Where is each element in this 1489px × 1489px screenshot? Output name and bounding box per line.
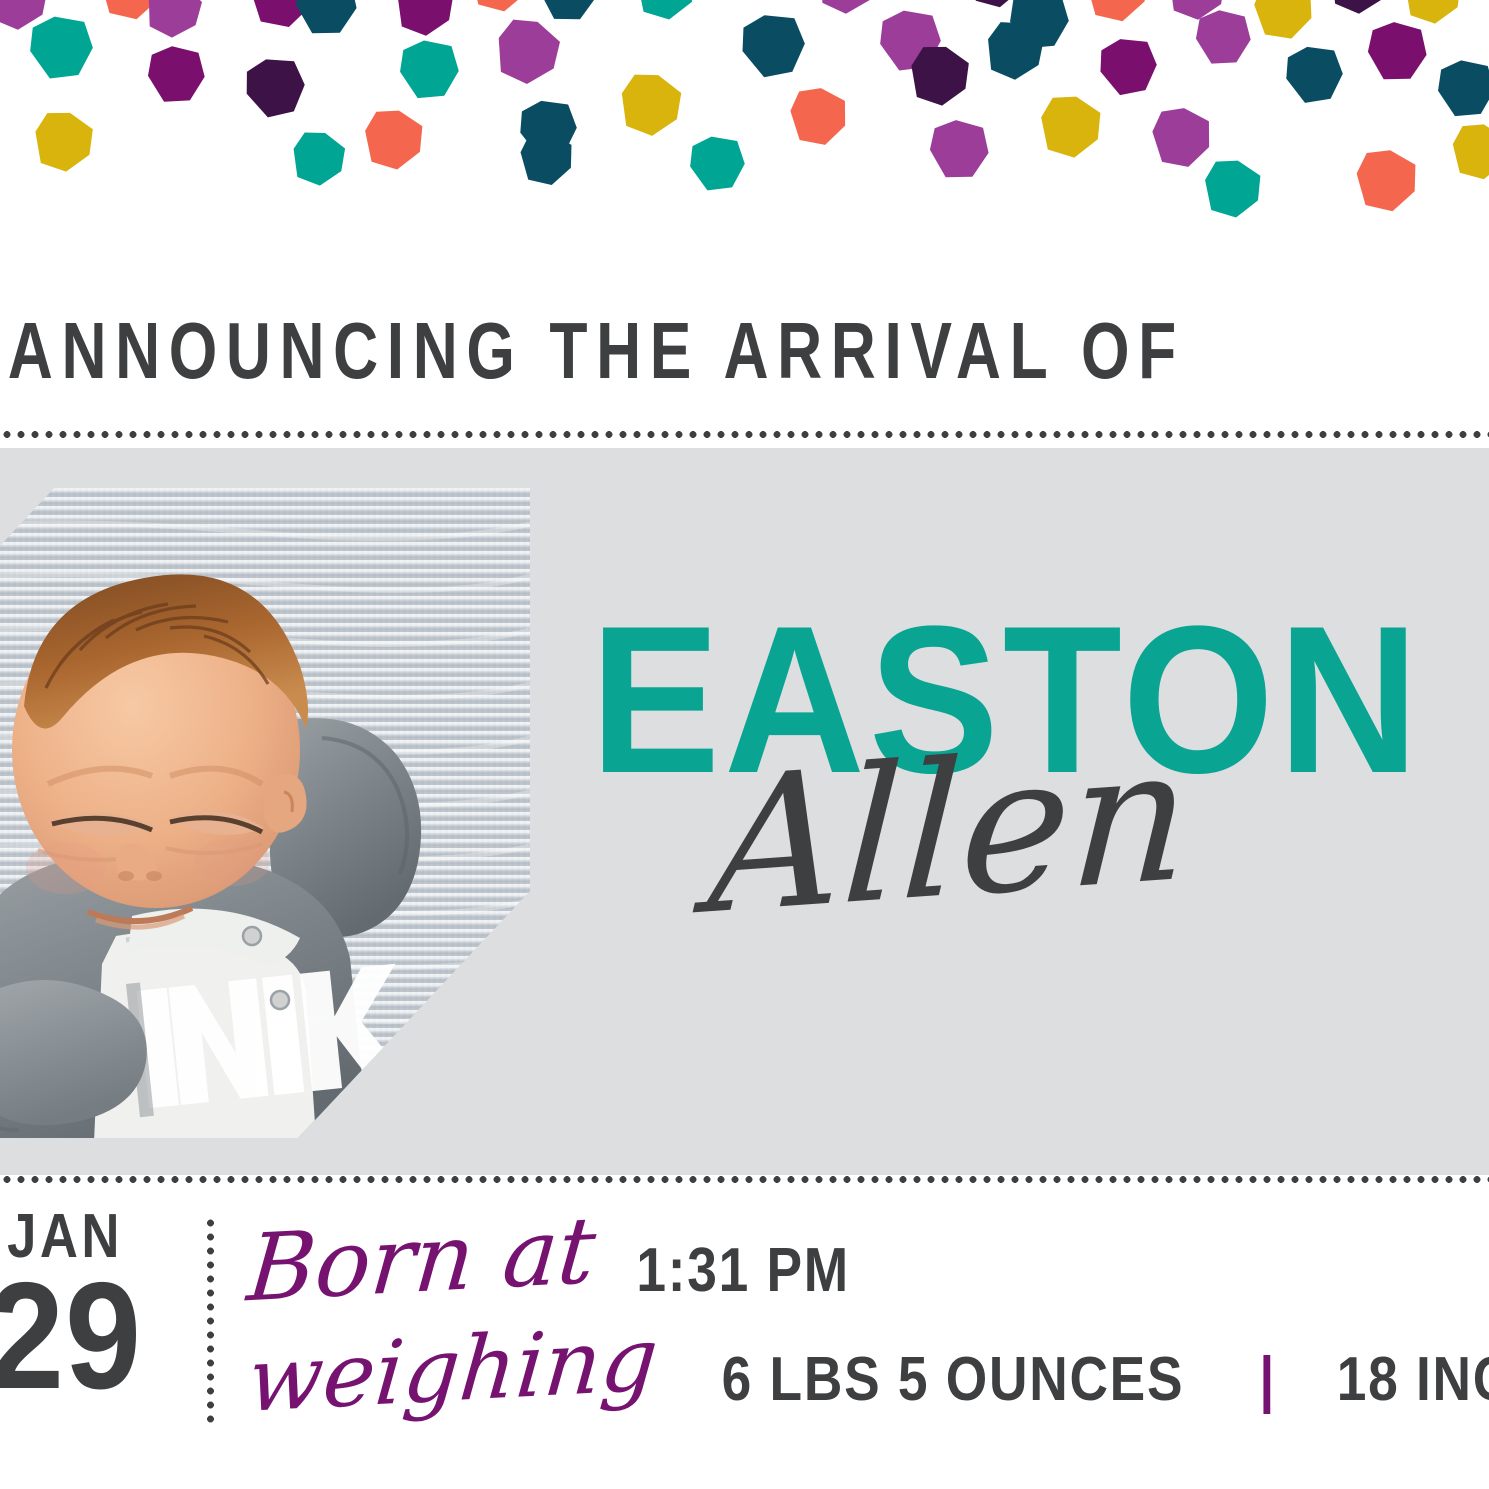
confetti-shape (1323, 0, 1394, 19)
confetti-shape (465, 0, 532, 15)
confetti-shape (1280, 40, 1348, 108)
announcement-header: ANNOUNCING THE ARRIVAL OF (0, 296, 1489, 406)
confetti-shape (735, 7, 812, 84)
divider-dotted-top (0, 431, 1489, 438)
weighing-label: weighing (244, 1315, 661, 1425)
birth-weight-value: 6 LBS 5 OUNCES (721, 1344, 1184, 1415)
confetti-shape (389, 0, 458, 41)
birth-announcement-card: ANNOUNCING THE ARRIVAL OF (0, 0, 1489, 1489)
confetti-shape (1365, 19, 1429, 83)
confetti-shape (1034, 90, 1105, 161)
confetti-shape (286, 126, 350, 190)
birth-length-value: 18 INCHES (1337, 1344, 1489, 1415)
birth-date-block: JAN 29 (0, 1208, 170, 1407)
confetti-shape (359, 105, 428, 174)
confetti-shape (293, 0, 359, 37)
confetti-shape (395, 35, 462, 102)
confetti-shape (538, 0, 598, 22)
birth-stat-rows: Born at 1:31 PM weighing 6 LBS 5 OUNCES … (248, 1214, 1478, 1438)
confetti-shape (927, 117, 991, 181)
divider-dotted-bottom (0, 1176, 1489, 1183)
confetti-shape (1448, 120, 1489, 183)
confetti-shape (1398, 0, 1466, 28)
confetti-shape (1352, 146, 1420, 214)
confetti-shape (1093, 31, 1162, 100)
confetti-shape (144, 42, 207, 105)
confetti-shape (1082, 0, 1150, 24)
confetti-shape (810, 0, 882, 20)
confetti-band (0, 0, 1489, 250)
confetti-shape (1149, 105, 1213, 169)
baby-name-block: EASTON Allen (590, 600, 1489, 1020)
confetti-shape (487, 11, 566, 90)
birth-time-row: Born at 1:31 PM (248, 1214, 1478, 1326)
born-at-label: Born at (244, 1205, 599, 1316)
confetti-shape (28, 106, 98, 176)
birth-time-value: 1:31 PM (637, 1235, 851, 1306)
confetti-shape (1434, 56, 1489, 121)
announcement-text: ANNOUNCING THE ARRIVAL OF (0, 311, 1185, 391)
birth-day: 29 (0, 1267, 160, 1407)
birth-weight-row: weighing 6 LBS 5 OUNCES | 18 INCHES (248, 1326, 1478, 1438)
confetti-shape (685, 131, 749, 195)
confetti-shape (613, 67, 687, 141)
confetti-shape (1199, 155, 1265, 221)
confetti-shape (1252, 0, 1314, 40)
middle-name: Allen (705, 721, 1194, 941)
confetti-shape (24, 10, 98, 84)
confetti-shape (631, 0, 700, 23)
birth-details: JAN 29 Born at 1:31 PM weighing 6 LBS 5 … (0, 1208, 1489, 1448)
stat-separator: | (1250, 1344, 1284, 1415)
confetti-shape (787, 85, 849, 147)
confetti-svg (0, 0, 1489, 250)
confetti-shape (238, 50, 311, 123)
divider-dotted-vertical (207, 1216, 214, 1428)
